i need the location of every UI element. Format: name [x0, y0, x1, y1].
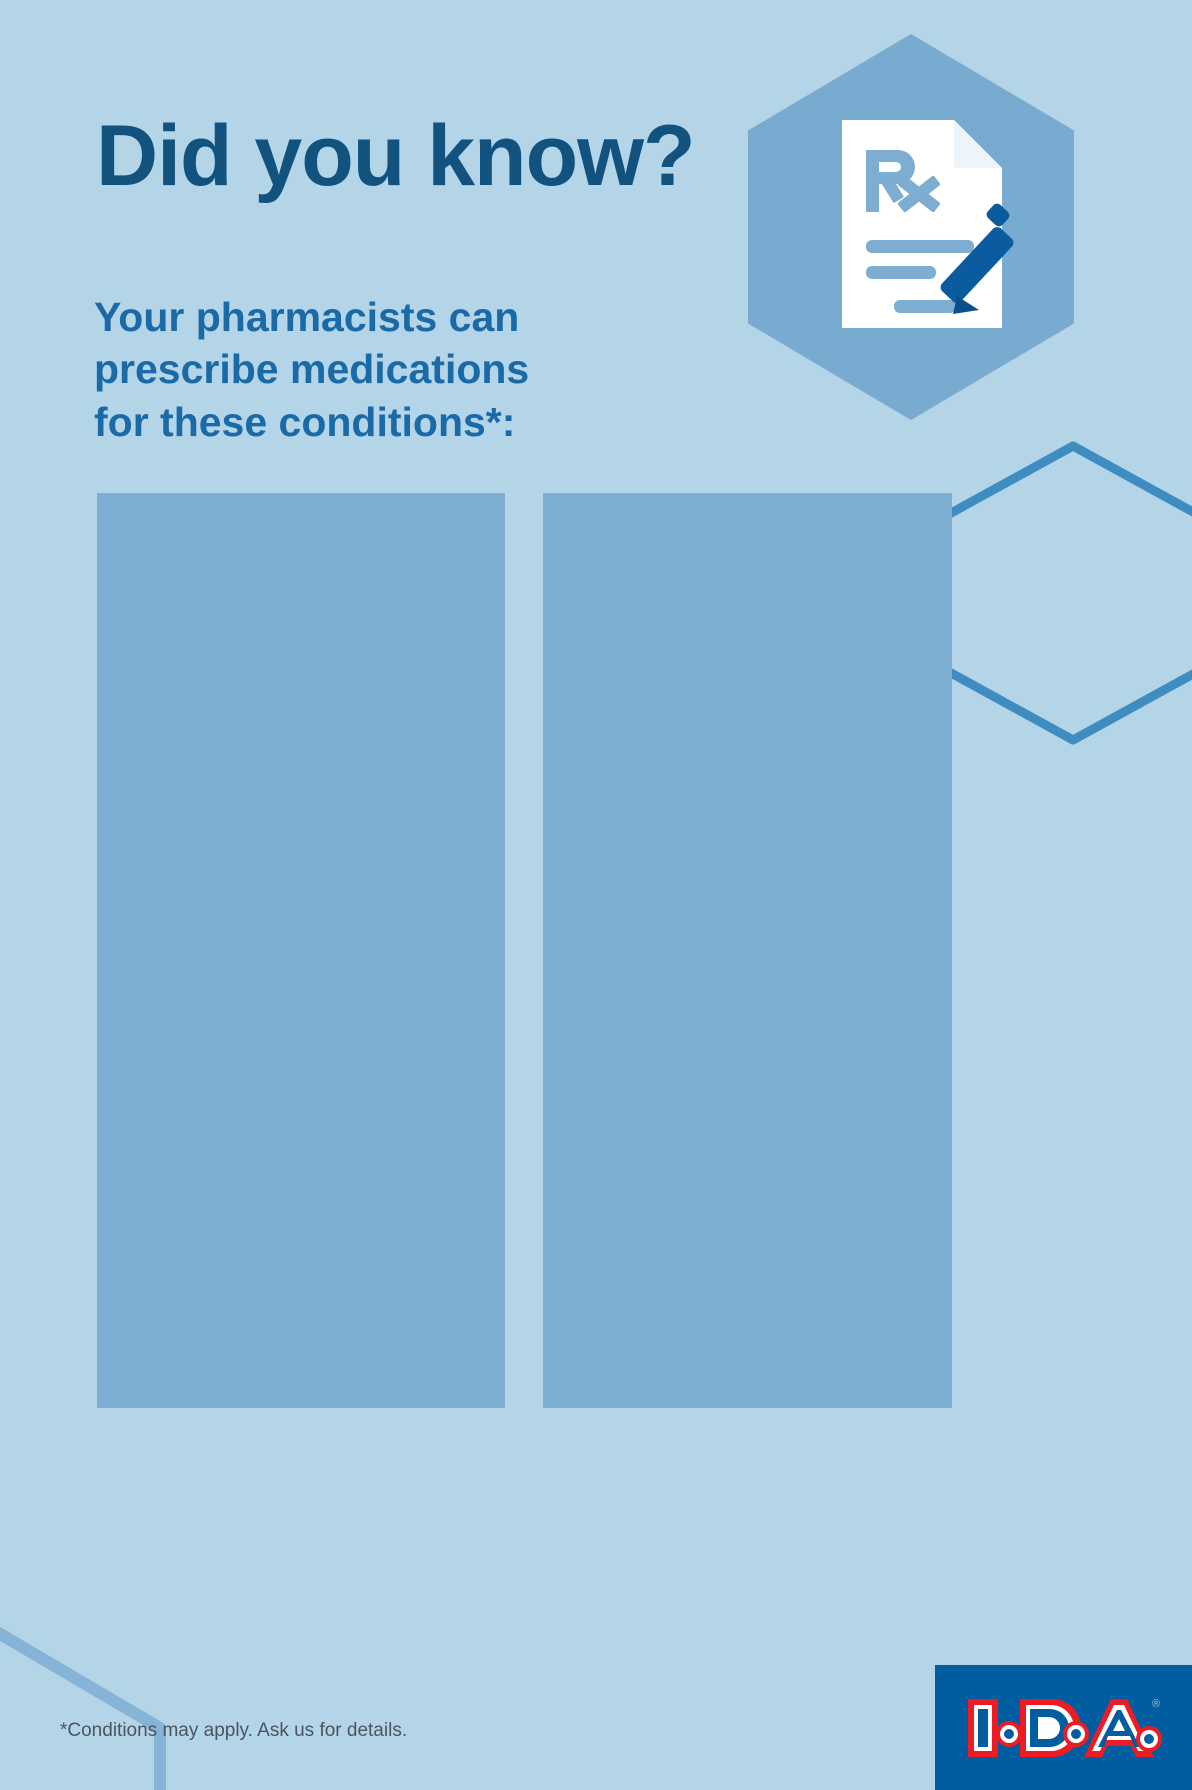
rx-document-icon — [836, 114, 1026, 334]
hexagon-outline-bottom-left — [0, 1610, 300, 1790]
ida-logo: ® — [935, 1665, 1192, 1790]
ida-logo-mark: ® — [964, 1689, 1164, 1767]
registered-mark: ® — [1152, 1698, 1160, 1710]
page-title: Did you know? — [96, 113, 695, 199]
conditions-panel-left — [97, 493, 505, 1408]
footnote-text: *Conditions may apply. Ask us for detail… — [60, 1720, 407, 1742]
conditions-panel-right — [543, 493, 952, 1408]
poster-canvas: Did you know? Your pharmacists can presc… — [0, 0, 1192, 1790]
hexagon-outline-right — [968, 440, 1192, 860]
page-subtitle: Your pharmacists can prescribe medicatio… — [94, 291, 529, 448]
